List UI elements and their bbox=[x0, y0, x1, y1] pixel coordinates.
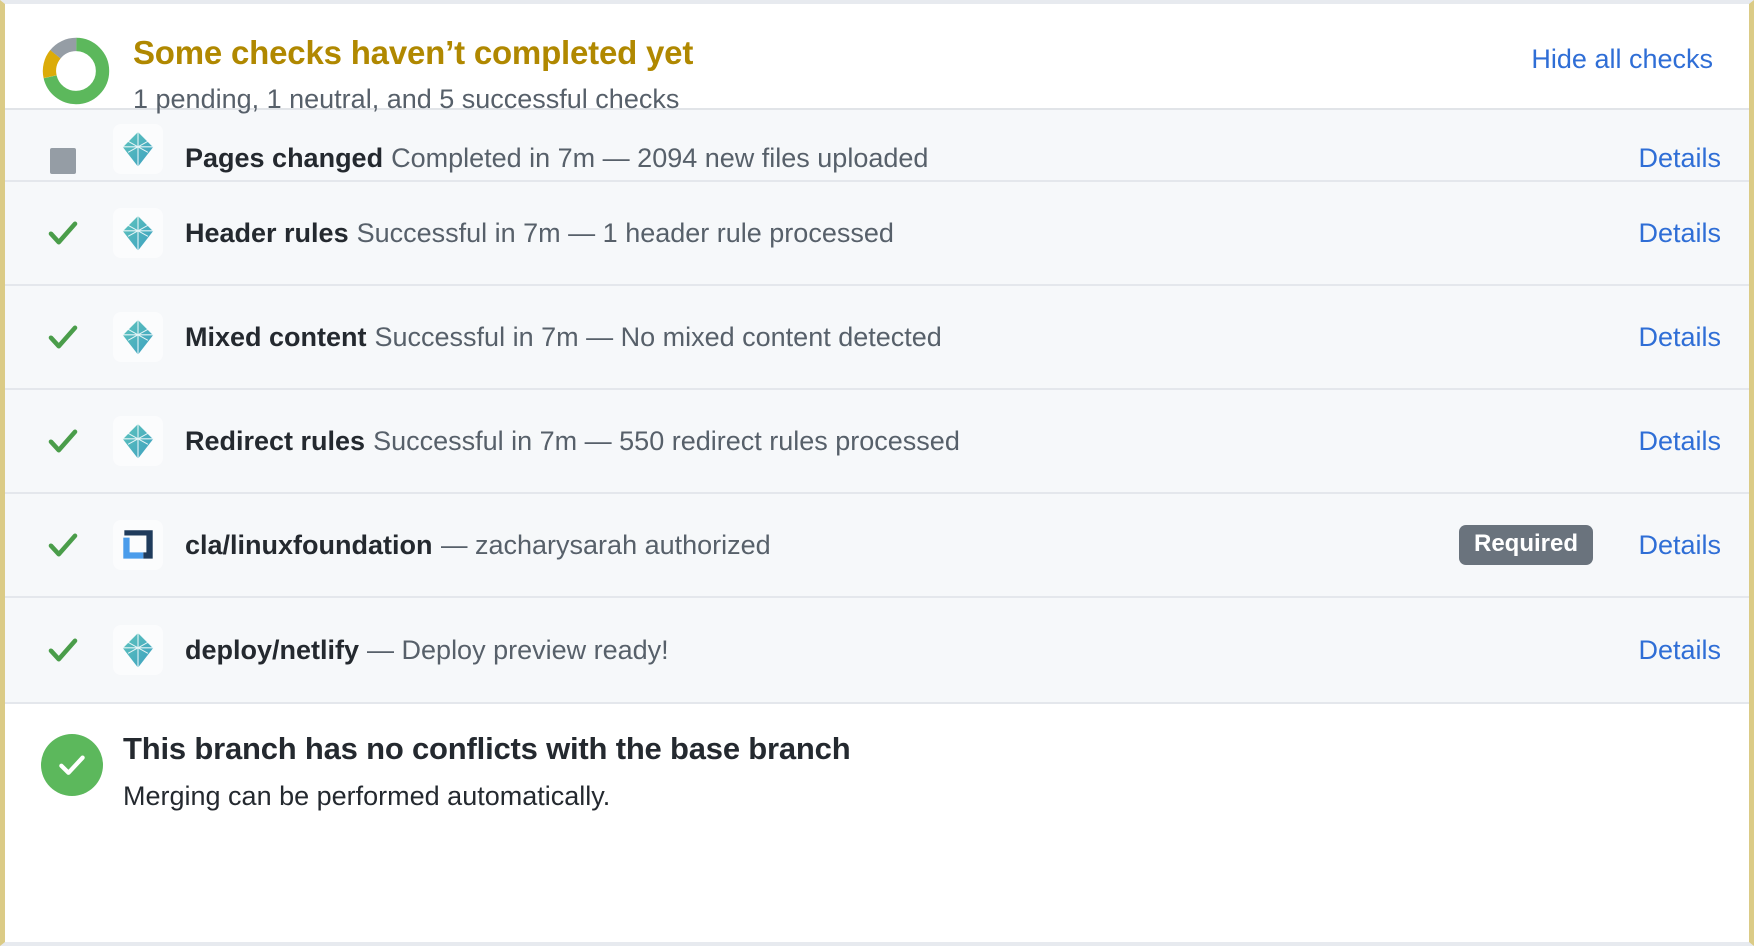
check-name: Pages changed bbox=[185, 143, 383, 174]
netlify-icon bbox=[113, 416, 163, 466]
merge-status-box: Some checks haven’t completed yet 1 pend… bbox=[0, 0, 1754, 946]
details-link[interactable]: Details bbox=[1621, 322, 1721, 353]
check-row[interactable]: deploy/netlify — Deploy preview ready! D… bbox=[5, 598, 1749, 702]
merge-status-title: This branch has no conflicts with the ba… bbox=[123, 730, 1721, 769]
check-row[interactable]: Header rules Successful in 7m — 1 header… bbox=[5, 182, 1749, 286]
check-description: Successful in 7m — 1 header rule process… bbox=[357, 218, 1621, 249]
checks-list: Pages changed Completed in 7m — 2094 new… bbox=[5, 108, 1749, 702]
check-name: cla/linuxfoundation bbox=[185, 530, 433, 561]
check-mark-icon bbox=[41, 424, 85, 458]
check-name: Header rules bbox=[185, 218, 349, 249]
check-row[interactable]: Pages changed Completed in 7m — 2094 new… bbox=[5, 110, 1749, 182]
details-link[interactable]: Details bbox=[1621, 218, 1721, 249]
check-row[interactable]: Mixed content Successful in 7m — No mixe… bbox=[5, 286, 1749, 390]
check-row[interactable]: cla/linuxfoundation — zacharysarah autho… bbox=[5, 494, 1749, 598]
details-link[interactable]: Details bbox=[1621, 530, 1721, 561]
checks-status-title: Some checks haven’t completed yet bbox=[133, 32, 1531, 73]
checks-status-summary: 1 pending, 1 neutral, and 5 successful c… bbox=[133, 80, 1531, 119]
check-description: Successful in 7m — No mixed content dete… bbox=[375, 322, 1621, 353]
required-badge: Required bbox=[1459, 525, 1593, 565]
hide-all-checks-link[interactable]: Hide all checks bbox=[1531, 44, 1721, 75]
details-link[interactable]: Details bbox=[1621, 635, 1721, 666]
check-mark-icon bbox=[41, 320, 85, 354]
details-link[interactable]: Details bbox=[1621, 143, 1721, 174]
merge-conflict-status: This branch has no conflicts with the ba… bbox=[5, 702, 1749, 838]
merge-status-subtitle: Merging can be performed automatically. bbox=[123, 777, 1721, 816]
netlify-icon bbox=[113, 312, 163, 362]
check-description: Successful in 7m — 550 redirect rules pr… bbox=[373, 426, 1621, 457]
check-row[interactable]: Redirect rules Successful in 7m — 550 re… bbox=[5, 390, 1749, 494]
check-mark-icon bbox=[41, 216, 85, 250]
green-check-circle-icon bbox=[41, 734, 103, 796]
check-description: — Deploy preview ready! bbox=[367, 635, 1621, 666]
checks-header-text: Some checks haven’t completed yet 1 pend… bbox=[133, 30, 1531, 119]
netlify-icon bbox=[113, 208, 163, 258]
check-name: Mixed content bbox=[185, 322, 367, 353]
check-name: deploy/netlify bbox=[185, 635, 359, 666]
netlify-icon bbox=[113, 124, 163, 174]
check-mark-icon bbox=[41, 528, 85, 562]
check-description: Completed in 7m — 2094 new files uploade… bbox=[391, 143, 1621, 174]
checks-status-header: Some checks haven’t completed yet 1 pend… bbox=[5, 4, 1749, 108]
neutral-square-icon bbox=[41, 148, 85, 174]
check-description: — zacharysarah authorized bbox=[441, 530, 1459, 561]
status-donut-icon bbox=[41, 36, 111, 106]
check-mark-icon bbox=[41, 633, 85, 667]
check-name: Redirect rules bbox=[185, 426, 365, 457]
details-link[interactable]: Details bbox=[1621, 426, 1721, 457]
merge-status-text: This branch has no conflicts with the ba… bbox=[123, 730, 1721, 816]
linux-foundation-icon bbox=[113, 520, 163, 570]
netlify-icon bbox=[113, 625, 163, 675]
